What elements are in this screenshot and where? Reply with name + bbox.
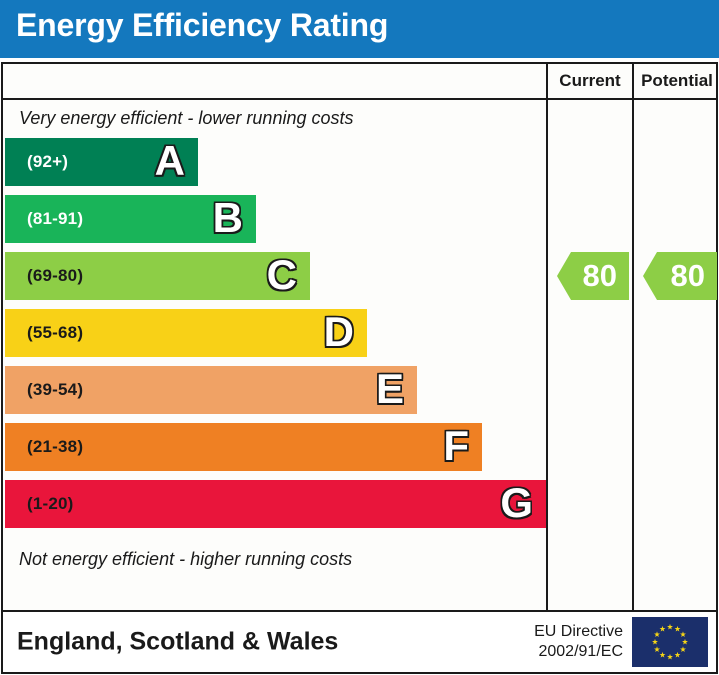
band-letter: G [500, 482, 533, 524]
band-letter: F [443, 425, 469, 467]
eu-directive-line-2: 2002/91/EC [534, 642, 623, 662]
band-g: (1-20)G [5, 480, 546, 528]
energy-efficiency-rating-chart: Energy Efficiency Rating Current Potenti… [0, 0, 719, 675]
band-range-label: (55-68) [27, 323, 83, 343]
band-a: (92+)A [5, 138, 198, 186]
band-letter: C [267, 254, 297, 296]
caption-inefficient: Not energy efficient - higher running co… [3, 540, 546, 578]
band-range-label: (69-80) [27, 266, 83, 286]
caption-efficient: Very energy efficient - lower running co… [3, 100, 546, 136]
rating-value: 80 [583, 258, 617, 294]
page-title: Energy Efficiency Rating [16, 7, 388, 44]
eu-flag-stars [632, 617, 708, 667]
band-letter: D [324, 311, 354, 353]
band-range-label: (92+) [27, 152, 68, 172]
rating-table: Current Potential Very energy efficient … [1, 62, 718, 612]
rating-arrow-current: 80 [557, 252, 629, 300]
column-header-current: Current [546, 64, 632, 98]
column-header-potential: Potential [632, 64, 719, 98]
band-d: (55-68)D [5, 309, 367, 357]
band-b: (81-91)B [5, 195, 256, 243]
column-divider-current [546, 100, 548, 612]
chart-footer: England, Scotland & Wales EU Directive 2… [1, 612, 718, 674]
band-range-label: (39-54) [27, 380, 83, 400]
band-range-label: (21-38) [27, 437, 83, 457]
column-header-row: Current Potential [3, 64, 716, 100]
band-letter: A [155, 140, 185, 182]
band-range-label: (1-20) [27, 494, 74, 514]
rating-value: 80 [671, 258, 705, 294]
band-range-label: (81-91) [27, 209, 83, 229]
band-e: (39-54)E [5, 366, 417, 414]
band-letter: B [213, 197, 243, 239]
column-divider-potential [632, 100, 634, 612]
band-list: (92+)A(81-91)B(69-80)C(55-68)D(39-54)E(2… [3, 138, 546, 538]
eu-flag-icon [632, 617, 708, 667]
band-letter: E [376, 368, 404, 410]
band-c: (69-80)C [5, 252, 310, 300]
footer-region-label: England, Scotland & Wales [17, 628, 338, 657]
eu-directive-line-1: EU Directive [534, 622, 623, 642]
band-f: (21-38)F [5, 423, 482, 471]
chart-title-bar: Energy Efficiency Rating [0, 0, 719, 58]
footer-eu-directive: EU Directive 2002/91/EC [534, 622, 623, 662]
rating-arrow-potential: 80 [643, 252, 717, 300]
